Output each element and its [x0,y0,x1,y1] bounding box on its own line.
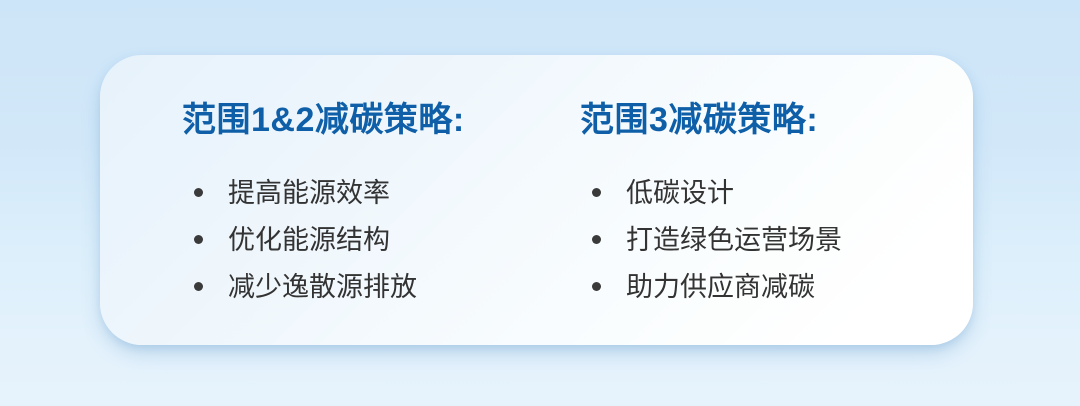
page-canvas: 范围1&2减碳策略: 提高能源效率 优化能源结构 减少逸散源排放 范围3减碳策略… [0,0,1080,406]
bullet-dot-icon [592,282,601,291]
bullet-dot-icon [592,235,601,244]
list-item: 提高能源效率 [182,176,417,223]
list-item-label: 优化能源结构 [228,225,390,255]
list-item: 打造绿色运营场景 [580,223,842,270]
column-heading-scope-3: 范围3减碳策略: [580,99,818,141]
bullet-dot-icon [194,235,203,244]
list-item-label: 减少逸散源排放 [228,272,417,302]
bullet-list-scope-3: 低碳设计 打造绿色运营场景 助力供应商减碳 [580,176,842,317]
list-item: 低碳设计 [580,176,842,223]
list-item: 优化能源结构 [182,223,417,270]
bullet-list-scope-1-2: 提高能源效率 优化能源结构 减少逸散源排放 [182,176,417,317]
list-item: 助力供应商减碳 [580,270,842,317]
column-heading-scope-1-2: 范围1&2减碳策略: [182,99,465,141]
list-item-label: 提高能源效率 [228,178,390,208]
bullet-dot-icon [592,188,601,197]
bullet-dot-icon [194,282,203,291]
list-item-label: 打造绿色运营场景 [626,225,842,255]
bullet-dot-icon [194,188,203,197]
strategy-card: 范围1&2减碳策略: 提高能源效率 优化能源结构 减少逸散源排放 范围3减碳策略… [100,55,973,345]
list-item-label: 低碳设计 [626,178,734,208]
list-item: 减少逸散源排放 [182,270,417,317]
list-item-label: 助力供应商减碳 [626,272,815,302]
